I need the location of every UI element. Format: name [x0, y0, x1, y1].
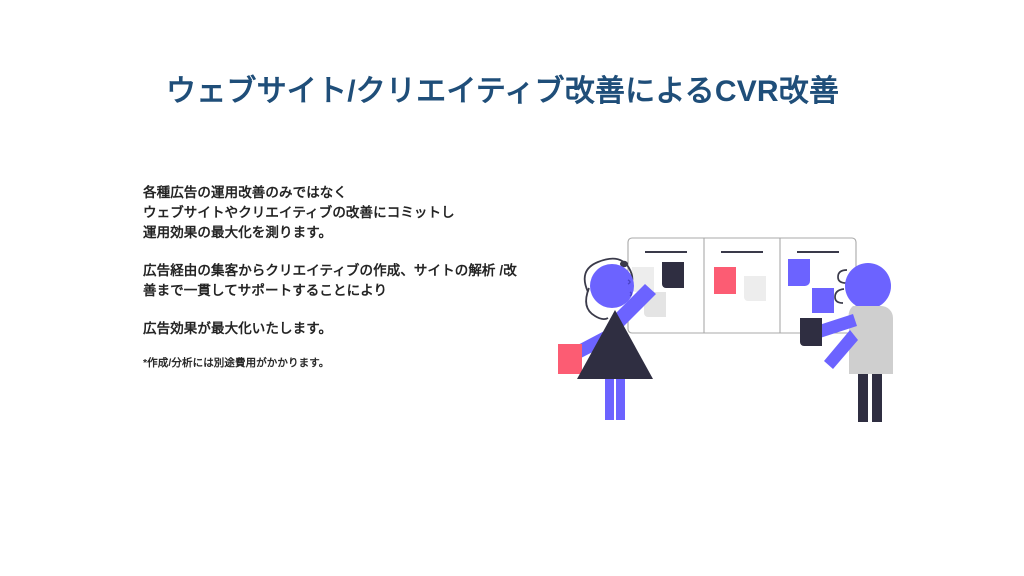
paragraph-1: 各種広告の運用改善のみではなく ウェブサイトやクリエイティブの改善にコミットし …	[143, 183, 535, 243]
whiteboard-illustration	[548, 222, 920, 432]
paragraph-2: 広告経由の集客からクリエイティブの作成、サイトの解析 /改 善まで一貫してサポー…	[143, 261, 535, 301]
figure-right-leg-2	[872, 370, 882, 422]
paragraph-2-line-2: 善まで一貫してサポートすることにより	[143, 281, 535, 301]
footnote: *作成/分析には別途費用がかかります。	[143, 355, 535, 371]
panel-3-note-purple-b	[812, 288, 834, 313]
paragraph-3-line-1: 広告効果が最大化いたします。	[143, 319, 535, 339]
panel-2-note-pink	[714, 267, 736, 294]
panel-1-note-navy	[662, 262, 684, 288]
figure-right-held-card	[800, 318, 822, 346]
paragraph-1-line-1: 各種広告の運用改善のみではなく	[143, 183, 535, 203]
paragraph-3: 広告効果が最大化いたします。	[143, 319, 535, 339]
body-copy: 各種広告の運用改善のみではなく ウェブサイトやクリエイティブの改善にコミットし …	[143, 183, 535, 371]
page-title: ウェブサイト/クリエイティブ改善によるCVR改善	[166, 71, 926, 113]
figure-right-head	[845, 263, 891, 309]
figure-right-leg-1	[858, 370, 868, 422]
panel-2-note-grey	[744, 276, 766, 301]
figure-left-head	[590, 264, 634, 308]
figure-left-held-card	[558, 344, 582, 374]
paragraph-1-line-2: ウェブサイトやクリエイティブの改善にコミットし	[143, 203, 535, 223]
paragraph-1-line-3: 運用効果の最大化を測ります。	[143, 223, 535, 243]
paragraph-2-line-1: 広告経由の集客からクリエイティブの作成、サイトの解析 /改	[143, 261, 535, 281]
slide-canvas: ウェブサイト/クリエイティブ改善によるCVR改善 各種広告の運用改善のみではなく…	[0, 0, 1024, 576]
panel-3-note-purple-a	[788, 259, 810, 286]
